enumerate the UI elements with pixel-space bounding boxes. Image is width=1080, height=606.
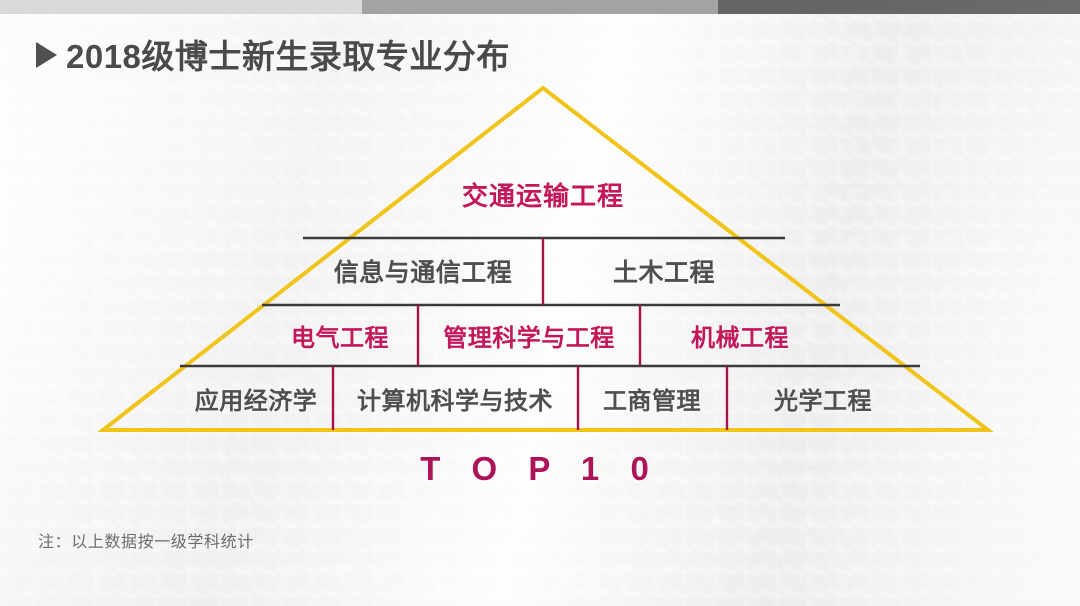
pyramid-tier-1: 交通运输工程: [400, 168, 686, 220]
pyramid-cell-transport-engineering[interactable]: 交通运输工程: [462, 168, 624, 220]
slide-canvas: 2018级博士新生录取专业分布 交通运输工程 信息与通信工程 土木工程 电气工程…: [0, 0, 1080, 606]
pyramid-tier-3: 电气工程 管理科学与工程 机械工程: [262, 307, 840, 363]
pyramid-cell-optical-engineering[interactable]: 光学工程: [726, 368, 920, 428]
top10-caption: T O P 1 0: [0, 450, 1080, 488]
pyramid-tier-2: 信息与通信工程 土木工程: [303, 240, 785, 302]
footnote-note: 注：以上数据按一级学科统计: [38, 528, 254, 552]
pyramid-cell-management-science-engineering[interactable]: 管理科学与工程: [418, 307, 640, 363]
pyramid-cell-electrical-engineering[interactable]: 电气工程: [262, 307, 418, 363]
pyramid-cell-applied-economics[interactable]: 应用经济学: [180, 368, 332, 428]
pyramid-cell-info-comm-engineering[interactable]: 信息与通信工程: [303, 240, 543, 302]
pyramid-cell-business-administration[interactable]: 工商管理: [578, 368, 726, 428]
pyramid-label-layer: 交通运输工程 信息与通信工程 土木工程 电气工程 管理科学与工程 机械工程 应用…: [0, 0, 1080, 606]
pyramid-cell-computer-science-technology[interactable]: 计算机科学与技术: [332, 368, 578, 428]
pyramid-tier-4: 应用经济学 计算机科学与技术 工商管理 光学工程: [180, 368, 920, 428]
pyramid-cell-civil-engineering[interactable]: 土木工程: [543, 240, 785, 302]
pyramid-cell-mechanical-engineering[interactable]: 机械工程: [640, 307, 840, 363]
